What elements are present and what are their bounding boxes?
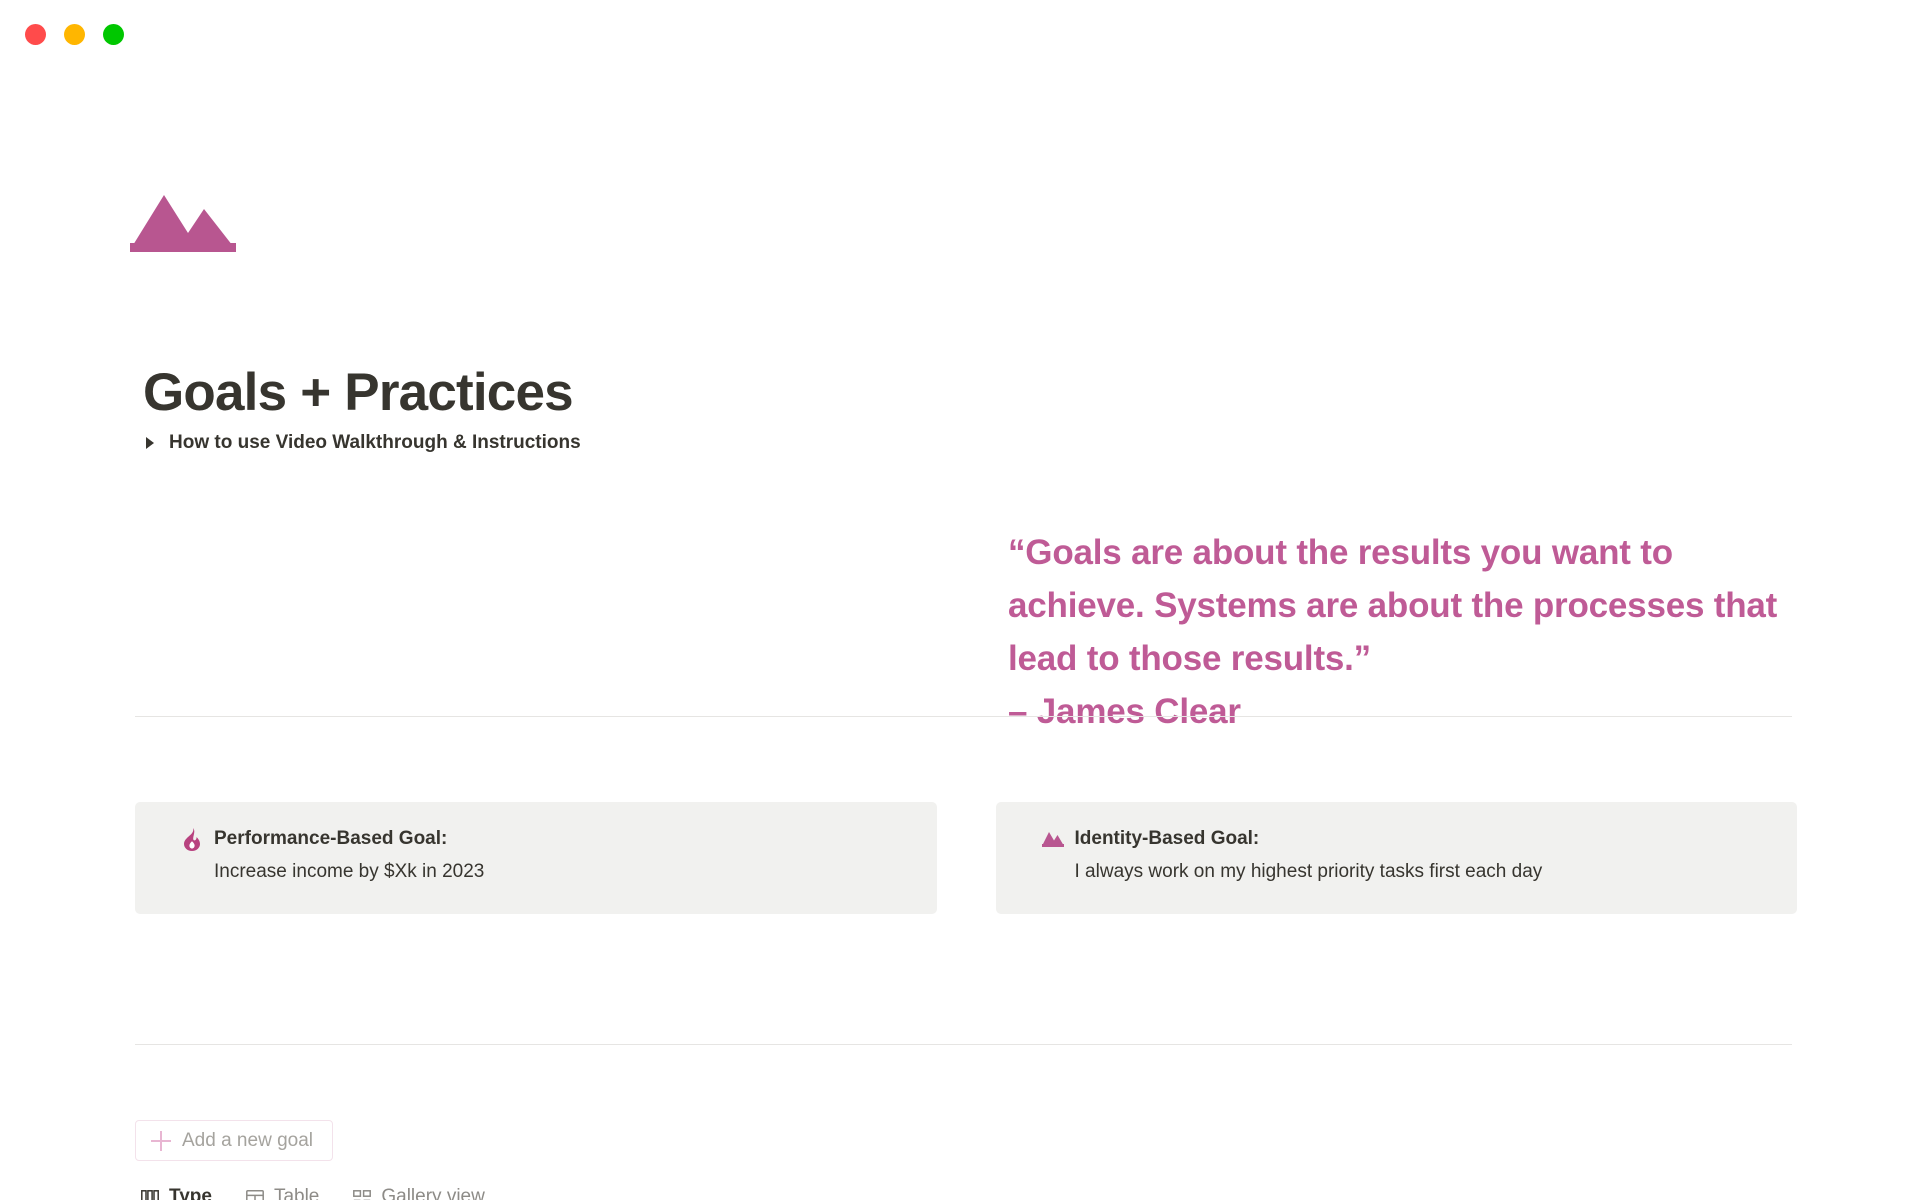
- goal-card-title: Performance-Based Goal:: [214, 827, 447, 851]
- goal-cards: Performance-Based Goal: Increase income …: [135, 802, 1797, 914]
- triangle-right-icon[interactable]: [143, 435, 157, 451]
- goal-card-header: Identity-Based Goal:: [1042, 827, 1798, 851]
- mountain-icon: [1042, 827, 1064, 851]
- minimize-button[interactable]: [64, 24, 85, 45]
- plus-icon: [151, 1131, 171, 1151]
- goal-card-body: Increase income by $Xk in 2023: [214, 859, 937, 885]
- quote-block[interactable]: “Goals are about the results you want to…: [1008, 526, 1798, 738]
- tab-type[interactable]: Type: [140, 1186, 212, 1200]
- tab-gallery-view[interactable]: Gallery view: [352, 1186, 484, 1200]
- goal-card-identity[interactable]: Identity-Based Goal: I always work on my…: [996, 802, 1798, 914]
- window-titlebar: [0, 0, 1920, 62]
- quote-attribution: – James Clear: [1008, 685, 1798, 738]
- add-new-goal-button[interactable]: Add a new goal: [135, 1120, 333, 1161]
- goal-card-title: Identity-Based Goal:: [1075, 827, 1260, 851]
- toggle-label[interactable]: How to use Video Walkthrough & Instructi…: [169, 432, 581, 454]
- flame-icon: [181, 827, 203, 851]
- maximize-button[interactable]: [103, 24, 124, 45]
- add-new-goal-label: Add a new goal: [182, 1130, 313, 1152]
- traffic-light-group: [25, 24, 124, 45]
- tab-label: Table: [274, 1186, 319, 1200]
- app-window: Goals + Practices How to use Video Walkt…: [0, 0, 1920, 1200]
- tab-label: Type: [169, 1186, 212, 1200]
- tab-table[interactable]: Table: [245, 1186, 319, 1200]
- goal-card-body: I always work on my highest priority tas…: [1075, 859, 1798, 885]
- board-icon: [140, 1188, 160, 1200]
- mountain-icon[interactable]: [130, 190, 236, 252]
- toggle-block[interactable]: How to use Video Walkthrough & Instructi…: [143, 432, 581, 454]
- goal-card-header: Performance-Based Goal:: [181, 827, 937, 851]
- database-view-tabs: Type Table: [140, 1186, 485, 1200]
- table-icon: [245, 1188, 265, 1200]
- quote-text: “Goals are about the results you want to…: [1008, 533, 1777, 678]
- divider-bottom: [135, 1044, 1792, 1045]
- tab-label: Gallery view: [381, 1186, 484, 1200]
- close-button[interactable]: [25, 24, 46, 45]
- divider-top: [135, 716, 1792, 717]
- goal-card-performance[interactable]: Performance-Based Goal: Increase income …: [135, 802, 937, 914]
- gallery-icon: [352, 1188, 372, 1200]
- page-title[interactable]: Goals + Practices: [143, 366, 573, 419]
